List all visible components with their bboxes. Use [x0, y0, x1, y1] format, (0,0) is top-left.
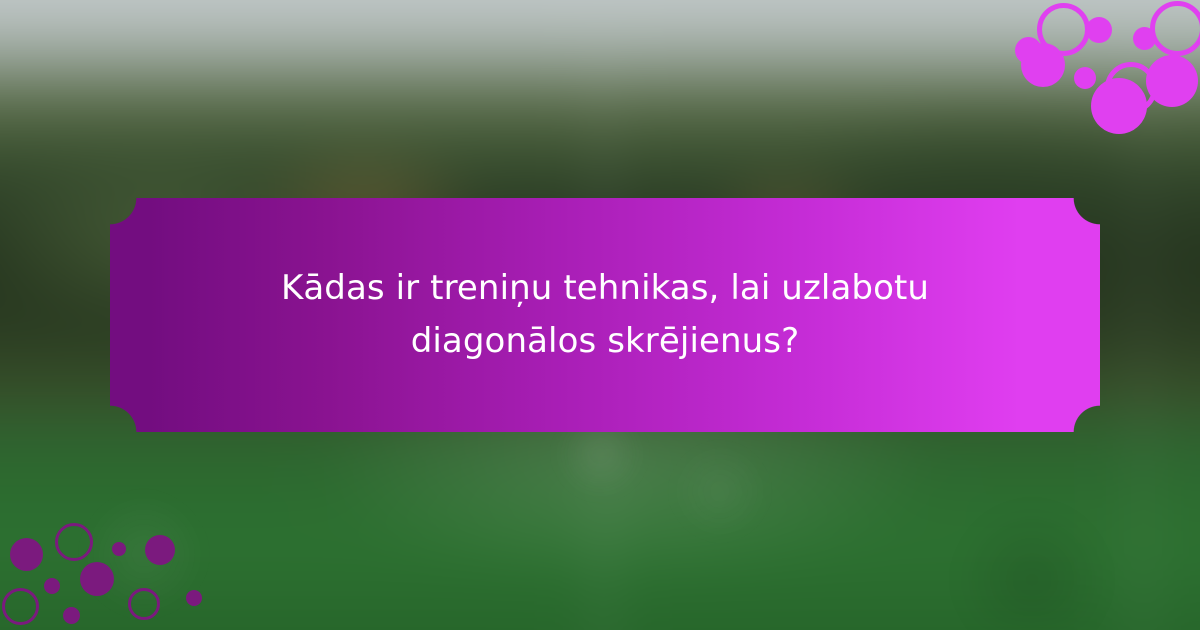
decorative-dot-filled: [186, 590, 202, 606]
question-text: Kādas ir treniņu tehnikas, lai uzlabotu …: [155, 262, 1055, 368]
decorative-dot-outline: [128, 588, 160, 620]
decorative-dot-outline: [1150, 1, 1200, 56]
decorative-dots-top-right: [990, 0, 1200, 120]
decorative-dots-bottom-left: [0, 510, 230, 630]
decorative-dot-filled: [44, 578, 60, 594]
decorative-dot-outline: [55, 523, 93, 561]
decorative-dot-filled: [1086, 17, 1112, 43]
decorative-dot-filled: [1021, 43, 1065, 87]
decorative-dot-outline: [2, 588, 39, 625]
decorative-dot-filled: [63, 607, 80, 624]
decorative-dot-filled: [10, 538, 43, 571]
decorative-dot-filled: [145, 535, 175, 565]
decorative-dot-filled: [112, 542, 126, 556]
question-banner: Kādas ir treniņu tehnikas, lai uzlabotu …: [110, 198, 1100, 432]
decorative-dot-filled: [1074, 67, 1096, 89]
decorative-dot-filled: [1146, 55, 1198, 107]
decorative-dot-filled: [80, 562, 114, 596]
social-card: Kādas ir treniņu tehnikas, lai uzlabotu …: [0, 0, 1200, 630]
